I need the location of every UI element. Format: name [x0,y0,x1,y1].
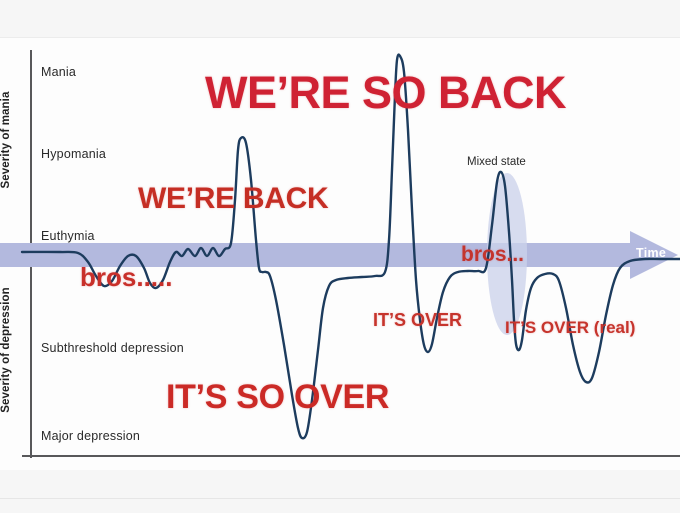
mixed-state-annotation-label: Mixed state [467,156,526,168]
y-axis-group-label-depression: Severity of depression [0,245,12,455]
meme-caption-its-over-real: IT’S OVER (real) [505,318,635,338]
x-axis-line [22,455,680,457]
y-tick-label-subthreshold-depression: Subthreshold depression [41,341,184,355]
meme-caption-were-so-back: WE’RE SO BACK [205,67,566,119]
meme-figure-stage: Severity of mania Severity of depression… [0,0,680,513]
y-tick-label-euthymia: Euthymia [41,229,95,243]
meme-caption-were-back: WE’RE BACK [138,182,328,216]
meme-caption-bros-first: bros..... [80,262,172,293]
y-tick-label-mania: Mania [41,65,76,79]
meme-caption-its-over: IT’S OVER [373,310,462,331]
meme-caption-bros-second: bros... [461,243,524,267]
y-tick-label-hypomania: Hypomania [41,147,106,161]
figure-bottom-rule [0,498,680,499]
y-tick-label-major-depression: Major depression [41,429,140,443]
figure-top-rule [0,37,680,38]
y-axis-group-label-mania: Severity of mania [0,35,12,245]
x-axis-time-label: Time [636,246,666,260]
meme-caption-its-so-over: IT’S SO OVER [166,378,389,417]
